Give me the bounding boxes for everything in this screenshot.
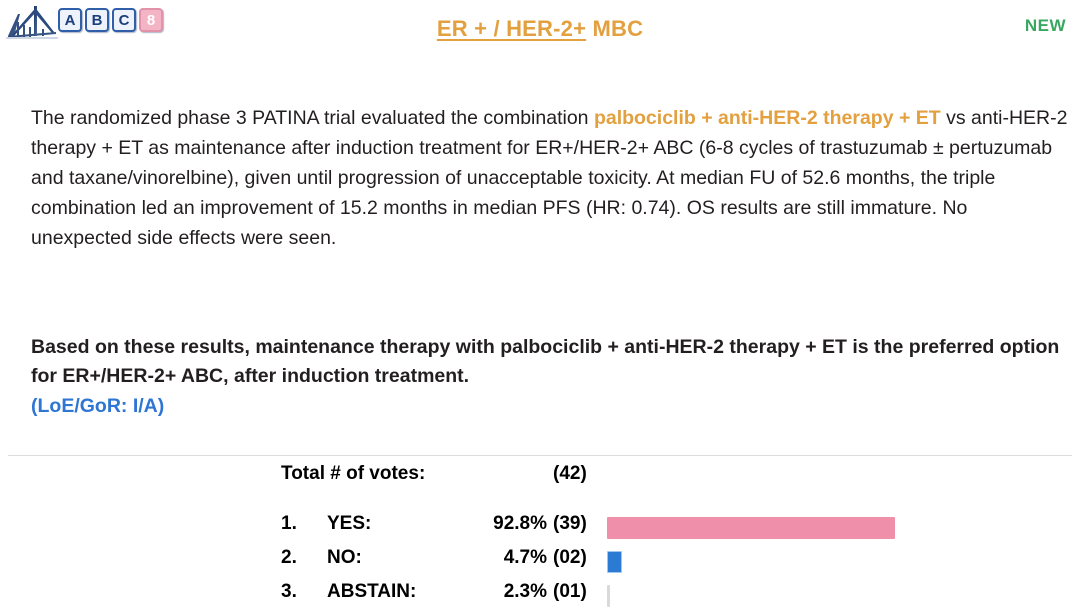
vote-pct-no: 4.7% [430,547,547,569]
intro-paragraph: The randomized phase 3 PATINA trial eval… [31,103,1073,253]
vote-label-no: NO: [327,547,362,569]
vote-count-abstain: (01) [553,581,599,603]
vote-bar-track-yes [607,517,895,539]
table-row: 1. YES: 92.8% (39) [0,513,1080,543]
conclusion-block: Based on these results, maintenance ther… [31,333,1075,420]
vote-label-abstain: ABSTAIN: [327,581,416,603]
vote-count-no: (02) [553,547,599,569]
section-divider [8,455,1072,456]
slide-header: A B C 8 ER + / HER-2+ MBC NEW [0,0,1080,58]
vote-bar-track-no [607,551,622,573]
vote-pct-abstain: 2.3% [430,581,547,603]
vote-total-row: Total # of votes: (42) [0,463,1080,493]
intro-part-1: The randomized phase 3 PATINA trial eval… [31,107,594,129]
table-row: 3. ABSTAIN: 2.3% (01) [0,581,1080,611]
vote-bar-track-abstain [607,585,610,607]
vote-rank-2: 2. [281,547,315,569]
vote-bar-abstain [607,585,610,607]
voting-results: Total # of votes: (42) 1. YES: 92.8% (39… [0,463,1080,610]
page-title-rest: MBC [586,16,643,41]
vote-bar-yes [607,517,895,539]
new-badge: NEW [1025,16,1066,36]
page-title-underlined: ER + / HER-2+ [437,16,586,41]
vote-pct-yes: 92.8% [430,513,547,535]
vote-total-count: (42) [553,463,599,485]
table-row: 2. NO: 4.7% (02) [0,547,1080,577]
vote-total-label: Total # of votes: [281,463,425,485]
intro-highlight: palbociclib + anti-HER-2 therapy + ET [594,107,941,129]
vote-rank-1: 1. [281,513,315,535]
vote-bar-no [607,551,622,573]
vote-count-yes: (39) [553,513,599,535]
page-title: ER + / HER-2+ MBC [0,16,1080,42]
vote-rank-3: 3. [281,581,315,603]
vote-label-yes: YES: [327,513,371,535]
loe-gor-label: (LoE/GoR: I/A) [31,393,1075,420]
conclusion-statement: Based on these results, maintenance ther… [31,333,1075,391]
